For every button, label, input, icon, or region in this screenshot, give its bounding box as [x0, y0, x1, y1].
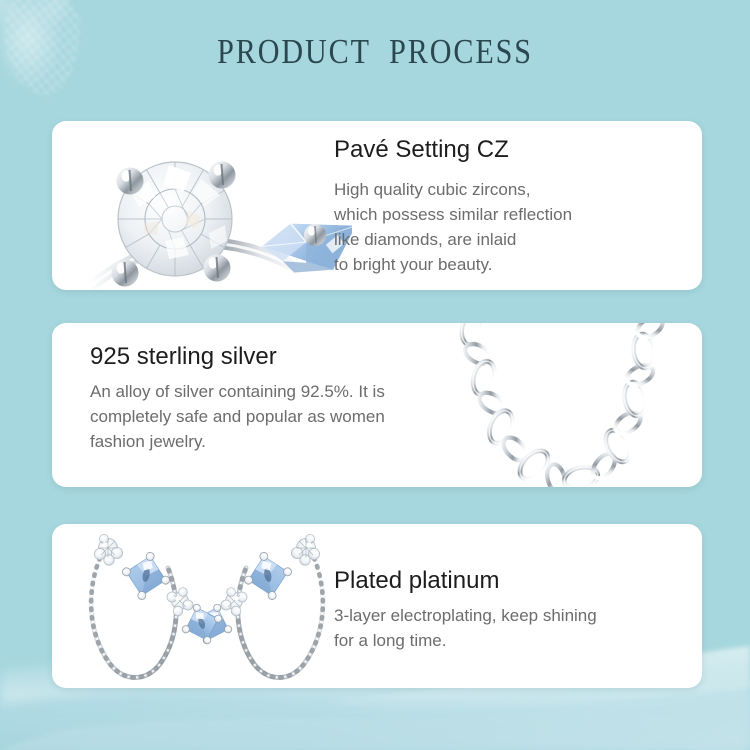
jewelry-image-chain-climber-earrings	[62, 524, 352, 688]
page-title: PRODUCT PROCESS	[53, 32, 698, 72]
card-heading: Plated platinum	[334, 568, 694, 594]
jewelry-image-silver-chain-necklace	[422, 323, 702, 487]
product-process-infographic: PRODUCT PROCESS	[0, 0, 750, 750]
card-body-text: 3-layer electroplating, keep shining for…	[334, 603, 694, 653]
feature-card-925-sterling-silver: 925 sterling silver An alloy of silver c…	[52, 323, 702, 487]
jewelry-image-round-brilliant-cz	[62, 121, 352, 290]
card-heading: Pavé Setting CZ	[334, 137, 694, 163]
card-body-text: High quality cubic zircons, which posses…	[334, 177, 694, 277]
feature-card-pave-setting-cz: Pavé Setting CZ High quality cubic zirco…	[52, 121, 702, 290]
feature-card-plated-platinum: Plated platinum 3-layer electroplating, …	[52, 524, 702, 688]
card-text-block: Plated platinum 3-layer electroplating, …	[334, 524, 694, 653]
card-text-block: Pavé Setting CZ High quality cubic zirco…	[334, 121, 694, 277]
